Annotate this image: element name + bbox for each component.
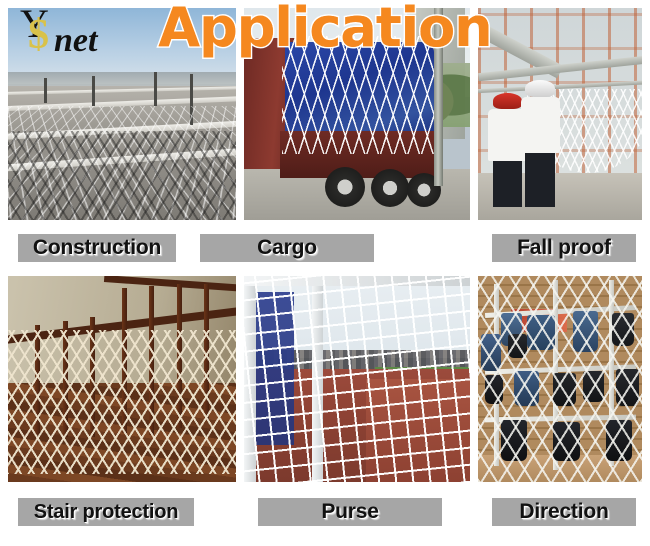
label-stair-protection: Stair protection: [18, 498, 194, 526]
label-text: Construction: [33, 236, 161, 260]
photo-stair-protection: [8, 276, 236, 482]
red-hard-hat: [493, 93, 523, 109]
utility-pole: [434, 8, 443, 186]
support-post: [154, 72, 157, 106]
cargo-net: [282, 36, 436, 155]
label-text: Purse: [321, 500, 378, 524]
label-construction: Construction: [18, 234, 176, 262]
photo-cargo: [244, 8, 470, 220]
photo-direction: [478, 276, 642, 482]
label-cargo: Cargo: [200, 234, 374, 262]
label-text: Stair protection: [34, 501, 179, 524]
application-poster: Construction Cargo Fall proof: [0, 0, 650, 546]
net-shadow: [8, 131, 236, 220]
brand-logo: Y $ net: [6, 2, 136, 60]
photo-purse: [244, 276, 470, 482]
label-purse: Purse: [258, 498, 442, 526]
label-fall-proof: Fall proof: [492, 234, 636, 262]
white-shirt: [521, 97, 560, 153]
photo-fall-proof: [478, 8, 642, 220]
label-text: Fall proof: [517, 236, 611, 260]
white-hard-hat: [525, 80, 555, 97]
goal-net: [244, 276, 470, 482]
support-post: [44, 78, 47, 103]
support-post: [92, 76, 95, 106]
display-net: [478, 276, 642, 482]
label-text: Cargo: [257, 236, 317, 260]
label-text: Direction: [519, 500, 608, 524]
dark-trousers: [525, 153, 555, 208]
truck-wheel: [371, 169, 409, 207]
label-direction: Direction: [492, 498, 636, 526]
logo-dollar-icon: $: [28, 14, 49, 56]
dark-trousers: [493, 161, 523, 207]
stair-safety-net: [8, 330, 236, 474]
worker-white-helmet: [521, 80, 560, 207]
